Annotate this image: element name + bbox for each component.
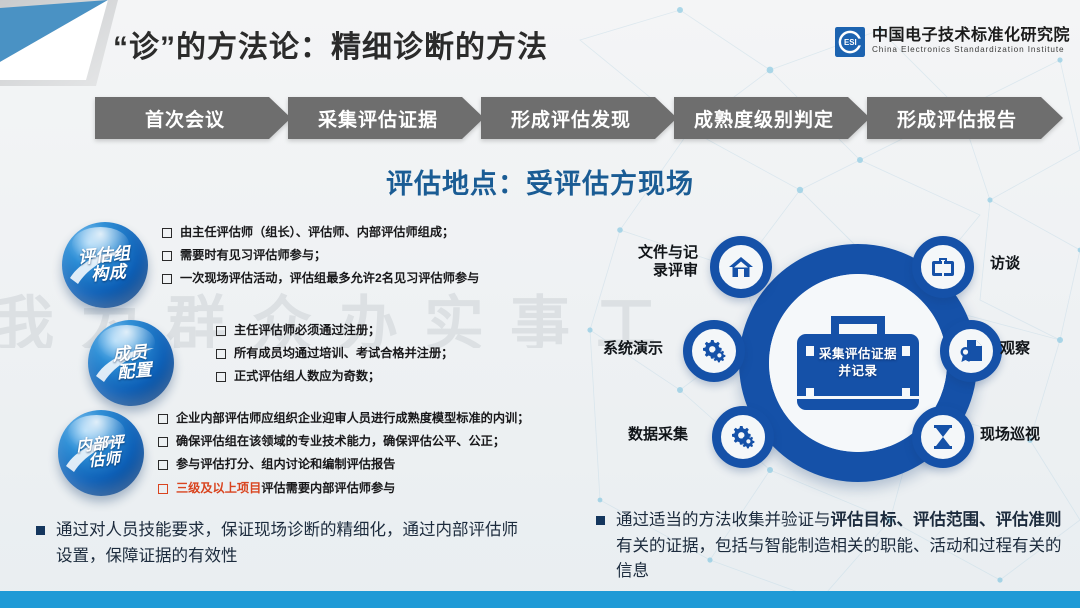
satellite-label-line1: 文件与记 <box>618 244 698 262</box>
group-assessment-team-composition: 评估组 构成 由主任评估师（组长）、评估师、内部评估师组成； 需要时有见习评估师… <box>62 222 582 308</box>
square-bullet-icon <box>158 437 168 447</box>
institute-logo: ESI 中国电子技术标准化研究院 China Electronics Stand… <box>835 27 1070 57</box>
bullet-text-rest: 评估需要内部评估师参与 <box>261 481 395 495</box>
process-step-5[interactable]: 形成评估报告 <box>867 97 1063 139</box>
center-label-line2: 并记录 <box>819 363 897 380</box>
bullet-text: 一次现场评估活动，评估组最多允许2名见习评估师参与 <box>180 272 479 284</box>
bullet-item: 一次现场评估活动，评估组最多允许2名见习评估师参与 <box>162 272 582 284</box>
square-bullet-icon <box>158 414 168 424</box>
bullet-list: 企业内部评估师应组织企业迎审人员进行成熟度模型标准的内训； 确保评估组在该领域的… <box>144 410 618 505</box>
gears-icon <box>701 338 728 364</box>
process-step-4-label: 成熟度级别判定 <box>694 105 834 132</box>
badge-assessment-team-composition: 评估组 构成 <box>62 222 148 308</box>
satellite-label-doc-record-review: 文件与记 录评审 <box>618 244 698 281</box>
badge-label-line2: 估师 <box>88 451 121 470</box>
badge-internal-assessor: 内部评 估师 <box>58 410 144 496</box>
satellite-observation[interactable] <box>940 320 1002 382</box>
square-marker-icon <box>596 516 605 525</box>
certificate-icon <box>959 338 984 364</box>
summary-right-bold: 评估目标、评估范围、评估准则 <box>831 511 1062 529</box>
bullet-text: 企业内部评估师应组织企业迎审人员进行成熟度模型标准的内训； <box>176 412 529 424</box>
logo-cn-name: 中国电子技术标准化研究院 <box>872 28 1070 45</box>
bullet-item: 参与评估打分、组内讨论和编制评估报告 <box>158 458 618 470</box>
bullet-text: 主任评估师必须通过注册； <box>234 324 380 336</box>
bullet-item: 企业内部评估师应组织企业迎审人员进行成熟度模型标准的内训； <box>158 412 618 424</box>
square-marker-icon <box>36 526 45 535</box>
bullet-text-red: 三级及以上项目 <box>176 481 261 495</box>
bullet-text: 确保评估组在该领域的专业技术能力，确保评估公平、公正； <box>176 435 505 447</box>
square-bullet-icon <box>162 228 172 238</box>
summary-right-part1: 通过适当的方法收集并验证与 <box>616 511 831 529</box>
bullet-item: 由主任评估师（组长）、评估师、内部评估师组成； <box>162 226 582 238</box>
satellite-label-line2: 录评审 <box>618 262 698 280</box>
bullet-text: 参与评估打分、组内讨论和编制评估报告 <box>176 458 395 470</box>
satellite-label-system-demo: 系统演示 <box>603 340 663 358</box>
group-member-allocation: 成员 配置 主任评估师必须通过注册； 所有成员均通过培训、考试合格并注册； 正式… <box>88 320 588 406</box>
satellite-label-observation: 观察 <box>1000 340 1030 358</box>
footer-bar <box>0 591 1080 608</box>
bullet-list: 由主任评估师（组长）、评估师、内部评估师组成； 需要时有见习评估师参与； 一次现… <box>148 222 582 296</box>
bullet-item: 所有成员均通过培训、考试合格并注册； <box>216 347 588 359</box>
badge-label-line2: 配置 <box>117 361 153 382</box>
bullet-item: 正式评估组人数应为奇数； <box>216 370 588 382</box>
satellite-label-interview: 访谈 <box>990 255 1020 273</box>
gears-icon <box>730 424 757 450</box>
summary-left-text: 通过对人员技能要求，保证现场诊断的精细化，通过内部评估师设置，保障证据的有效性 <box>56 518 526 569</box>
square-bullet-icon <box>158 460 168 470</box>
badge-label: 评估组 构成 <box>58 218 151 311</box>
square-bullet-icon <box>216 349 226 359</box>
page-title: “诊”的方法论：精细诊断的方法 <box>113 22 548 66</box>
square-bullet-icon <box>162 251 172 261</box>
esi-circle-logo-icon: ESI <box>835 27 865 57</box>
square-bullet-icon <box>216 372 226 382</box>
badge-member-allocation: 成员 配置 <box>88 320 174 406</box>
diagram-center-label: 采集评估证据 并记录 <box>819 346 897 380</box>
satellite-label-site-inspection: 现场巡视 <box>980 426 1040 444</box>
hourglass-icon <box>932 424 954 450</box>
process-step-4[interactable]: 成熟度级别判定 <box>674 97 870 139</box>
badge-label: 内部评 估师 <box>54 406 147 499</box>
bullet-text: 正式评估组人数应为奇数； <box>234 370 380 382</box>
section-heading: 评估地点：受评估方现场 <box>0 162 1080 201</box>
satellite-label-data-collection: 数据采集 <box>628 426 688 444</box>
bullet-text-group: 三级及以上项目评估需要内部评估师参与 <box>176 482 395 494</box>
bullet-item: 需要时有见习评估师参与； <box>162 249 582 261</box>
summary-bullet-right: 通过适当的方法收集并验证与评估目标、评估范围、评估准则有关的证据，包括与智能制造… <box>596 508 1066 585</box>
process-steps-bar: 首次会议 采集评估证据 形成评估发现 成熟度级别判定 形成评估报告 <box>95 97 1060 139</box>
satellite-system-demo[interactable] <box>683 320 745 382</box>
svg-text:ESI: ESI <box>844 38 857 47</box>
summary-right-part2: 有关的证据，包括与智能制造相关的职能、活动和过程有关的信息 <box>616 537 1062 581</box>
process-step-1-label: 首次会议 <box>145 105 225 132</box>
center-label-line1: 采集评估证据 <box>819 346 897 363</box>
logo-en-name: China Electronics Standardization Instit… <box>872 45 1070 56</box>
satellite-site-inspection[interactable] <box>912 406 974 468</box>
bullet-text: 所有成员均通过培训、考试合格并注册； <box>234 347 453 359</box>
bullet-item: 确保评估组在该领域的专业技术能力，确保评估公平、公正； <box>158 435 618 447</box>
badge-label-line2: 构成 <box>91 263 127 284</box>
satellite-doc-record-review[interactable] <box>710 236 772 298</box>
square-bullet-icon <box>216 326 226 336</box>
process-step-3[interactable]: 形成评估发现 <box>481 97 677 139</box>
square-bullet-icon <box>158 484 168 494</box>
process-step-3-label: 形成评估发现 <box>511 105 631 132</box>
summary-bullet-left: 通过对人员技能要求，保证现场诊断的精细化，通过内部评估师设置，保障证据的有效性 <box>36 518 526 569</box>
bullet-text: 由主任评估师（组长）、评估师、内部评估师组成； <box>180 226 454 238</box>
home-icon <box>728 254 754 280</box>
process-step-5-label: 形成评估报告 <box>897 105 1017 132</box>
bullet-item-highlighted: 三级及以上项目评估需要内部评估师参与 <box>158 482 618 494</box>
satellite-interview[interactable] <box>912 236 974 298</box>
bullet-item: 主任评估师必须通过注册； <box>216 324 588 336</box>
evidence-collection-diagram: 采集评估证据 并记录 文件与记 录评审 系统演示 <box>600 232 1070 494</box>
process-step-2[interactable]: 采集评估证据 <box>288 97 484 139</box>
square-bullet-icon <box>162 274 172 284</box>
satellite-data-collection[interactable] <box>712 406 774 468</box>
process-step-1[interactable]: 首次会议 <box>95 97 291 139</box>
process-step-2-label: 采集评估证据 <box>318 105 438 132</box>
bullet-text: 需要时有见习评估师参与； <box>180 249 326 261</box>
briefcase-icon <box>930 255 956 279</box>
group-internal-assessor: 内部评 估师 企业内部评估师应组织企业迎审人员进行成熟度模型标准的内训； 确保评… <box>58 410 618 505</box>
badge-label: 成员 配置 <box>84 316 177 409</box>
bullet-list: 主任评估师必须通过注册； 所有成员均通过培训、考试合格并注册； 正式评估组人数应… <box>174 320 588 394</box>
summary-right-text: 通过适当的方法收集并验证与评估目标、评估范围、评估准则有关的证据，包括与智能制造… <box>616 508 1066 585</box>
